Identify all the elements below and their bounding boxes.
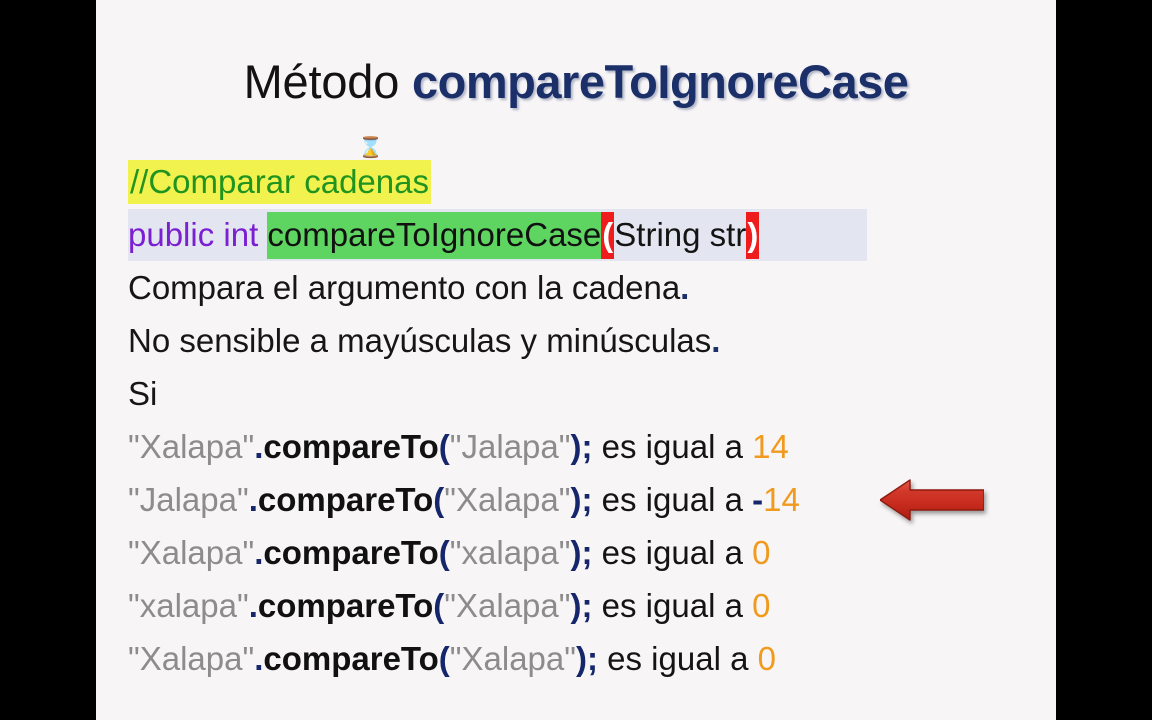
example-paren-open: ( [439, 534, 450, 571]
code-comment-line: //Comparar cadenas [128, 157, 1028, 209]
example-phrase: es igual a [592, 481, 752, 518]
example-paren-open: ( [433, 481, 444, 518]
example-semicolon: ; [581, 428, 592, 465]
example-right-string: "xalapa" [450, 534, 571, 571]
code-paren-close: ) [746, 212, 759, 259]
example-left-string: "Xalapa" [128, 534, 254, 571]
example-paren-open: ( [433, 587, 444, 624]
slide-canvas: Método compareToIgnoreCase //Comparar ca… [96, 0, 1056, 720]
example-line: "Xalapa".compareTo("xalapa"); es igual a… [128, 526, 1028, 579]
example-dot: . [254, 534, 263, 571]
description-line-2-text: No sensible a mayúsculas y minúsculas [128, 322, 711, 359]
example-left-string: "Xalapa" [128, 640, 254, 677]
description-line-2: No sensible a mayúsculas y minúsculas. [128, 314, 1028, 367]
page-title-accent: compareToIgnoreCase [412, 55, 908, 108]
code-method-name: compareToIgnoreCase [267, 212, 601, 259]
example-line: "xalapa".compareTo("Xalapa"); es igual a… [128, 579, 1028, 632]
letterbox-bar-left [0, 0, 96, 720]
slide-screen: Método compareToIgnoreCase //Comparar ca… [0, 0, 1152, 720]
example-semicolon: ; [587, 640, 598, 677]
hourglass-cursor-icon: ⌛ [358, 136, 378, 160]
example-left-string: "Jalapa" [128, 481, 249, 518]
example-result: 0 [752, 587, 770, 624]
example-method: compareTo [258, 481, 433, 518]
example-right-string: "Xalapa" [444, 587, 570, 624]
example-paren-open: ( [439, 640, 450, 677]
example-result: 0 [758, 640, 776, 677]
example-right-string: "Jalapa" [450, 428, 571, 465]
example-method: compareTo [258, 587, 433, 624]
example-paren-open: ( [439, 428, 450, 465]
example-paren-close: ) [576, 640, 587, 677]
description-line-1-text: Compara el argumento con la cadena [128, 269, 680, 306]
example-line: "Xalapa".compareTo("Xalapa"); es igual a… [128, 632, 1028, 685]
code-comment-text: //Comparar cadenas [128, 160, 431, 204]
example-phrase: es igual a [598, 640, 758, 677]
example-line: "Xalapa".compareTo("Jalapa"); es igual a… [128, 420, 1028, 473]
code-signature-line: public int compareToIgnoreCase(String st… [128, 209, 867, 261]
page-title-plain: Método [244, 55, 412, 108]
page-title: Método compareToIgnoreCase [96, 56, 1056, 108]
example-result: 0 [752, 534, 770, 571]
slide-body: //Comparar cadenas public int compareToI… [128, 157, 1028, 685]
example-paren-close: ) [570, 428, 581, 465]
code-paren-open: ( [601, 212, 614, 259]
example-paren-close: ) [570, 534, 581, 571]
example-dot: . [254, 428, 263, 465]
example-result: 14 [752, 428, 789, 465]
example-phrase: es igual a [592, 587, 752, 624]
description-line-3-text: Si [128, 375, 157, 412]
example-method: compareTo [263, 640, 438, 677]
code-keyword: public int [128, 216, 258, 253]
example-phrase: es igual a [592, 428, 752, 465]
description-line-1: Compara el argumento con la cadena. [128, 261, 1028, 314]
example-right-string: "Xalapa" [444, 481, 570, 518]
example-paren-close: ) [570, 481, 581, 518]
description-line-2-dot: . [711, 322, 720, 359]
example-sign: - [752, 481, 763, 518]
example-dot: . [254, 640, 263, 677]
example-result: 14 [763, 481, 800, 518]
example-method: compareTo [263, 428, 438, 465]
example-right-string: "Xalapa" [450, 640, 576, 677]
example-semicolon: ; [581, 481, 592, 518]
example-dot: . [249, 587, 258, 624]
example-semicolon: ; [581, 534, 592, 571]
left-arrow-icon [880, 478, 984, 522]
example-semicolon: ; [581, 587, 592, 624]
code-argument: String str [614, 216, 746, 253]
example-method: compareTo [263, 534, 438, 571]
example-left-string: "xalapa" [128, 587, 249, 624]
description-line-1-dot: . [680, 269, 689, 306]
example-left-string: "Xalapa" [128, 428, 254, 465]
example-dot: . [249, 481, 258, 518]
letterbox-bar-right [1056, 0, 1152, 720]
example-phrase: es igual a [592, 534, 752, 571]
example-paren-close: ) [570, 587, 581, 624]
description-line-3: Si [128, 367, 1028, 420]
